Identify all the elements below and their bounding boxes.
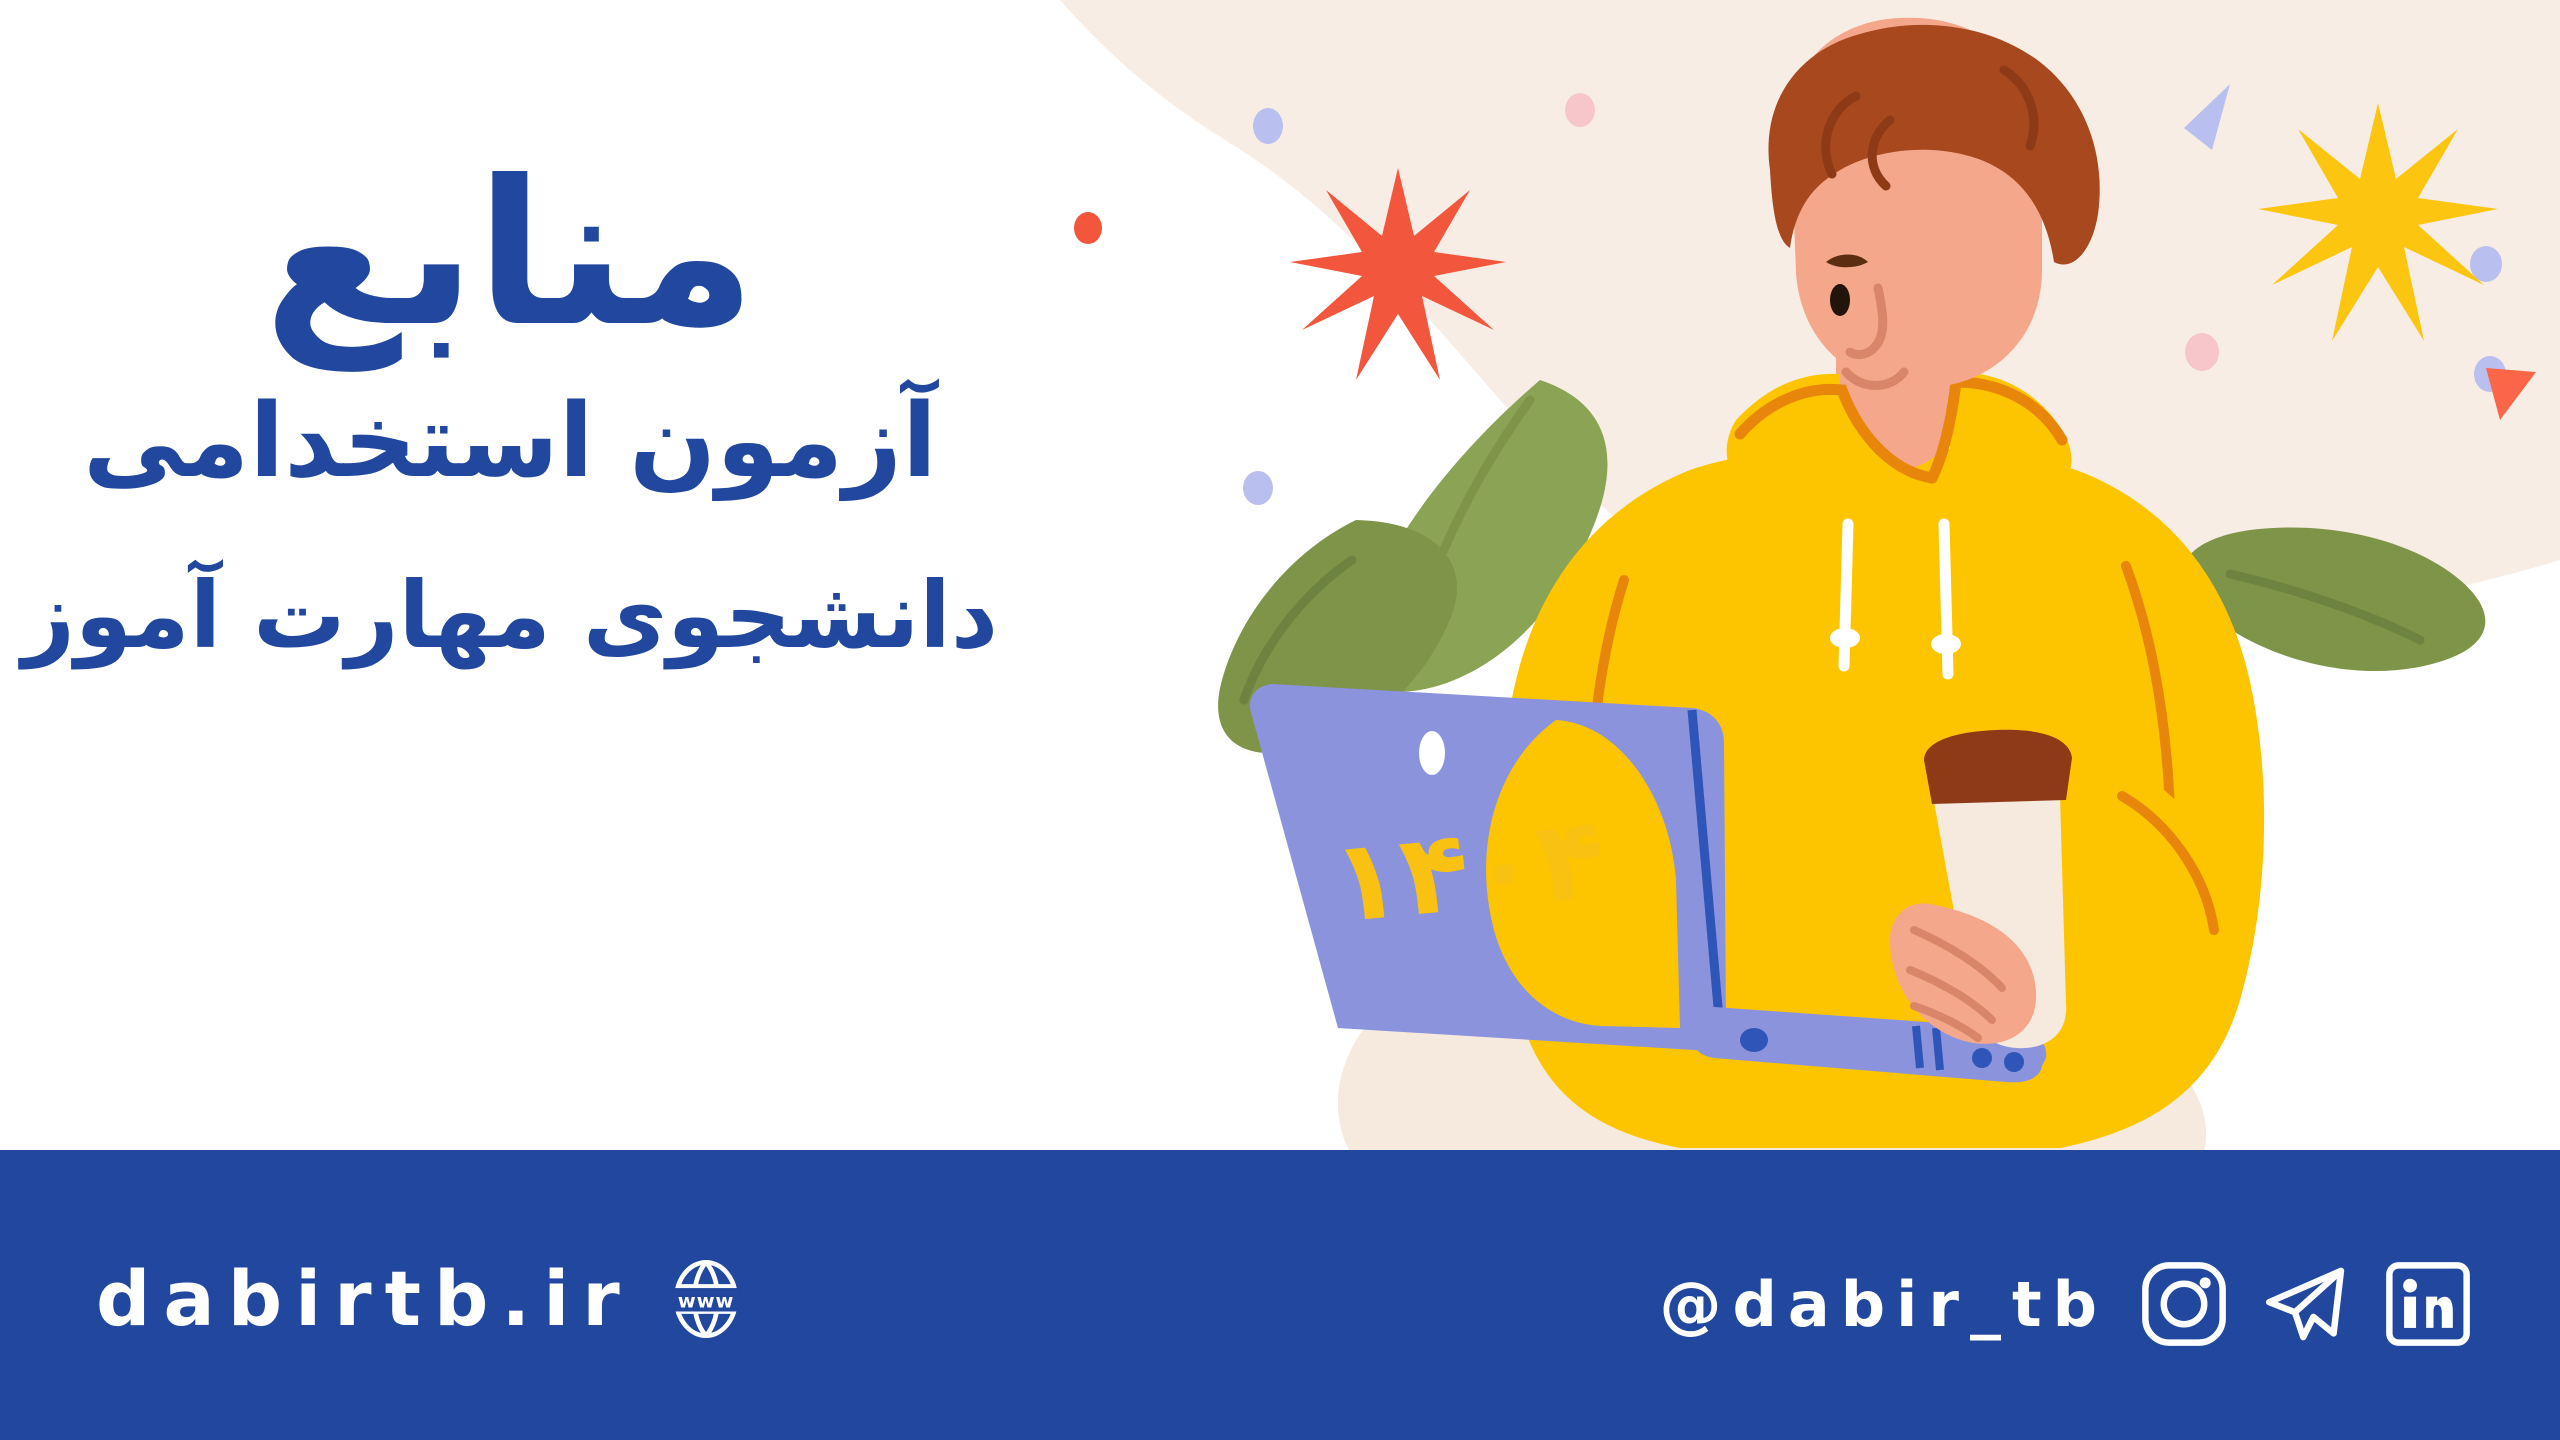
periwinkle-dot-3 bbox=[2470, 246, 2502, 282]
red-dot-1 bbox=[1074, 212, 1102, 244]
headline-line-1: منابع bbox=[0, 150, 1020, 360]
periwinkle-dot-2 bbox=[1243, 471, 1273, 505]
social-block: @dabir_tb bbox=[1660, 1258, 2474, 1350]
website-url-text: dabirtb.ir bbox=[96, 1254, 633, 1343]
headline-line-3: دانشجوی مهارت آموز bbox=[0, 558, 1020, 673]
banner-canvas: ۱۴۰۴ منابع آزمون استخدامی دانشجوی مهارت … bbox=[0, 0, 2560, 1440]
telegram-icon[interactable] bbox=[2260, 1258, 2352, 1350]
headline-line-2: آزمون استخدامی bbox=[0, 378, 1020, 506]
instagram-icon[interactable] bbox=[2138, 1258, 2230, 1350]
eye bbox=[1830, 284, 1850, 316]
linkedin-icon[interactable] bbox=[2382, 1258, 2474, 1350]
www-globe-icon: www bbox=[667, 1260, 745, 1338]
periwinkle-dot-1 bbox=[1253, 108, 1283, 144]
social-handle-text: @dabir_tb bbox=[1660, 1268, 2108, 1341]
pink-dot-2 bbox=[2185, 333, 2219, 371]
pink-dot-1 bbox=[1565, 93, 1595, 127]
headline-block: منابع آزمون استخدامی دانشجوی مهارت آموز bbox=[0, 150, 1020, 673]
laptop-screen-year: ۱۴۰۴ bbox=[1326, 793, 1611, 949]
svg-text:www: www bbox=[678, 1289, 734, 1312]
footer-bar: www dabirtb.ir @dabir_tb bbox=[0, 1150, 2560, 1440]
website-link[interactable]: www dabirtb.ir bbox=[96, 1254, 745, 1343]
